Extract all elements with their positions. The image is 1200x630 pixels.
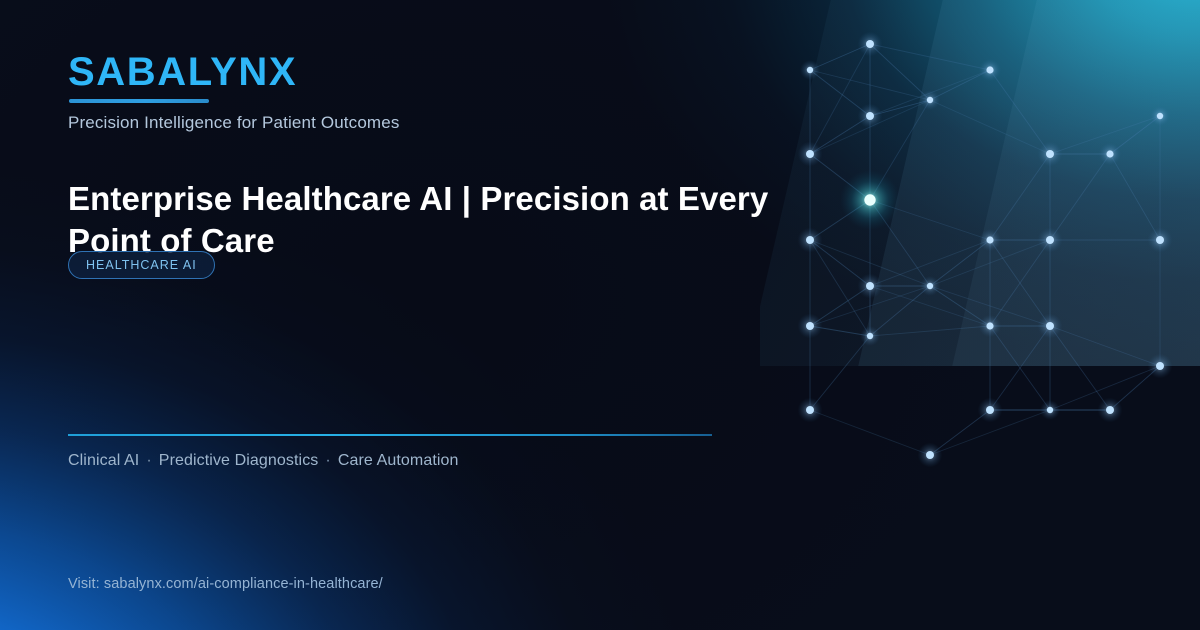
- network-link: [1050, 326, 1110, 410]
- network-node: [1106, 406, 1114, 414]
- network-node: [1046, 150, 1054, 158]
- keyword-item: Care Automation: [338, 452, 459, 469]
- network-node: [866, 282, 874, 290]
- content-column: SABALYNX Precision Intelligence for Pati…: [68, 0, 768, 630]
- network-node: [1106, 150, 1113, 157]
- network-node: [1157, 113, 1163, 119]
- network-nodes: [798, 32, 1173, 468]
- network-link: [870, 326, 990, 336]
- keyword-separator: ·: [318, 452, 337, 469]
- network-node: [866, 112, 874, 120]
- network-node: [867, 333, 873, 339]
- network-node: [986, 236, 993, 243]
- network-node: [806, 236, 814, 244]
- network-link: [810, 336, 870, 410]
- footer-divider: [68, 434, 712, 436]
- network-node-graphic: [760, 0, 1200, 630]
- network-node: [1156, 362, 1164, 370]
- network-node: [1156, 236, 1164, 244]
- keyword-separator: ·: [139, 452, 158, 469]
- page-title: Enterprise Healthcare AI | Precision at …: [68, 178, 778, 262]
- keyword-item: Clinical AI: [68, 452, 139, 469]
- network-link: [930, 240, 990, 286]
- network-node: [866, 40, 874, 48]
- network-node: [927, 283, 933, 289]
- brand-tagline: Precision Intelligence for Patient Outco…: [68, 113, 400, 133]
- network-link: [1050, 326, 1160, 366]
- network-link: [990, 154, 1050, 240]
- og-card: SABALYNX Precision Intelligence for Pati…: [0, 0, 1200, 630]
- network-node: [986, 66, 993, 73]
- network-link: [1050, 154, 1110, 240]
- keyword-list: Clinical AI·Predictive Diagnostics·Care …: [68, 452, 459, 470]
- brand-logo: SABALYNX: [68, 52, 297, 92]
- network-node: [807, 67, 813, 73]
- network-node: [986, 406, 994, 414]
- network-node: [927, 97, 933, 103]
- network-node: [1046, 322, 1054, 330]
- keyword-item: Predictive Diagnostics: [159, 452, 319, 469]
- network-node: [806, 406, 814, 414]
- network-link: [990, 70, 1050, 154]
- network-node-active: [864, 194, 875, 205]
- network-node: [1047, 407, 1053, 413]
- network-node: [986, 322, 993, 329]
- network-link: [810, 410, 930, 455]
- visit-url: Visit: sabalynx.com/ai-compliance-in-hea…: [68, 576, 383, 592]
- network-node: [806, 322, 814, 330]
- brand-logo-underline: [69, 99, 209, 103]
- network-node: [926, 451, 934, 459]
- network-link: [870, 44, 990, 70]
- category-badge: HEALTHCARE AI: [68, 251, 215, 279]
- network-link: [1110, 154, 1160, 240]
- network-node: [806, 150, 814, 158]
- network-node: [1046, 236, 1054, 244]
- network-link: [810, 44, 870, 154]
- network-link: [930, 100, 1050, 154]
